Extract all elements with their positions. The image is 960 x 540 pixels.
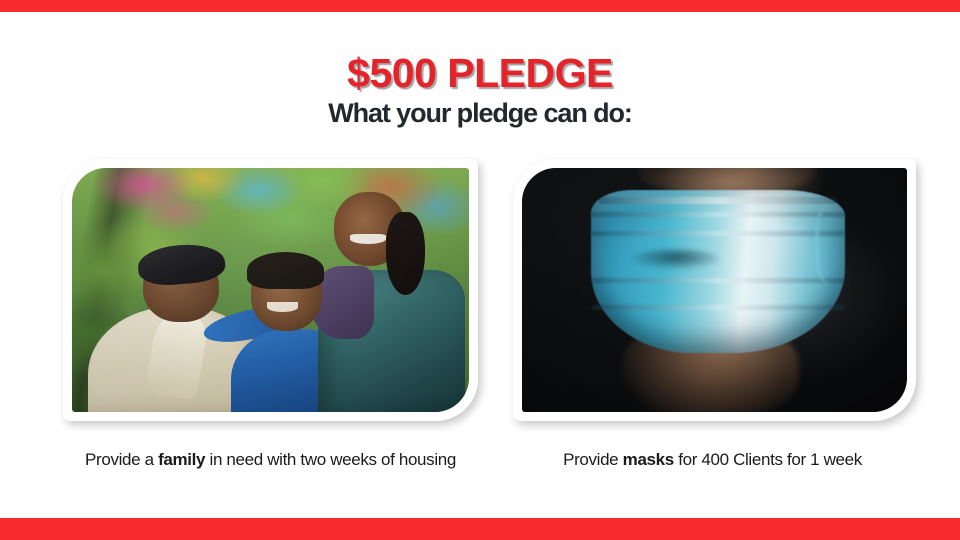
- mask-photo-vignette: [522, 168, 907, 412]
- page-subtitle: What your pledge can do:: [0, 99, 960, 129]
- caption-masks: Provide masks for 400 Clients for 1 week: [505, 447, 920, 474]
- bottom-red-band: [0, 518, 960, 540]
- top-red-band: [0, 0, 960, 12]
- slide-canvas: $500 PLEDGE What your pledge can do:: [0, 0, 960, 540]
- caption-text-before: Provide: [563, 450, 623, 469]
- photo-card-family: [63, 159, 478, 421]
- caption-family: Provide a family in need with two weeks …: [63, 447, 478, 474]
- photo-card-masks: [513, 159, 916, 421]
- page-title: $500 PLEDGE: [0, 52, 960, 95]
- caption-text-after: for 400 Clients for 1 week: [674, 450, 862, 469]
- caption-text-bold: family: [158, 450, 205, 469]
- family-photo-image: [72, 168, 469, 412]
- mask-photo-image: [522, 168, 907, 412]
- family-photo-overlay: [72, 168, 469, 412]
- title-block: $500 PLEDGE What your pledge can do:: [0, 52, 960, 129]
- caption-text-bold: masks: [623, 450, 674, 469]
- caption-text-after: in need with two weeks of housing: [205, 450, 456, 469]
- caption-text-before: Provide a: [85, 450, 158, 469]
